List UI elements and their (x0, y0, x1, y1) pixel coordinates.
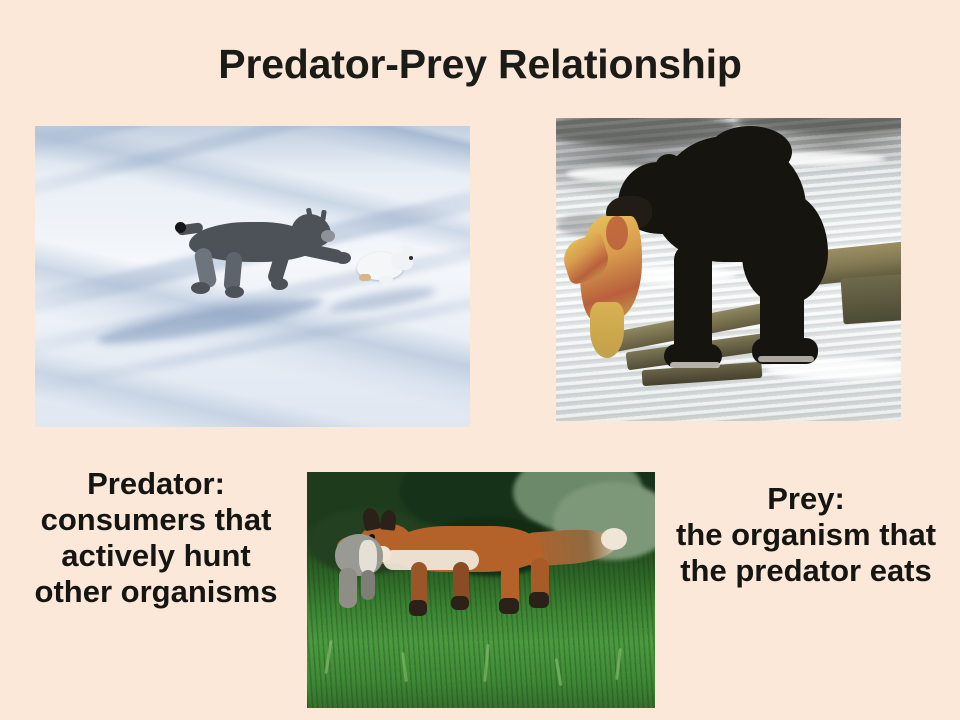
grass-blade (483, 644, 489, 682)
rabbit-prey-figure (331, 534, 397, 606)
image-bear-eating-salmon: A black bear standing on logs in whitewa… (556, 118, 901, 421)
predator-heading: Predator: (8, 466, 304, 502)
grass-blade (615, 648, 622, 680)
grass-meadow-background (307, 472, 655, 708)
log (840, 274, 901, 325)
predator-line-1: consumers that (8, 502, 304, 538)
grass-blade (555, 658, 563, 686)
predator-definition-block: Predator: consumers that actively hunt o… (8, 466, 304, 610)
page-title: Predator-Prey Relationship (0, 44, 960, 85)
slide-canvas: Predator-Prey Relationship (0, 0, 960, 720)
salmon-figure (564, 210, 672, 360)
snowshoe-hare-figure (357, 246, 419, 284)
prey-line-2: the predator eats (658, 553, 954, 589)
prey-line-1: the organism that (658, 517, 954, 553)
predator-line-2: actively hunt (8, 538, 304, 574)
river-rapids-background (556, 118, 901, 421)
prey-heading: Prey: (658, 481, 954, 517)
grass-blade (401, 652, 408, 682)
image-lynx-chasing-hare: A grey lynx bounding across a sunlit sno… (35, 126, 470, 427)
snow-shadow-streak (35, 126, 470, 209)
predator-line-3: other organisms (8, 574, 304, 610)
image-fox-carrying-rabbit: A red fox trotting across green grass ca… (307, 472, 655, 708)
grass-blade (324, 640, 332, 674)
snowfield-background (35, 126, 470, 427)
lynx-figure (175, 208, 345, 298)
prey-definition-block: Prey: the organism that the predator eat… (658, 481, 954, 589)
